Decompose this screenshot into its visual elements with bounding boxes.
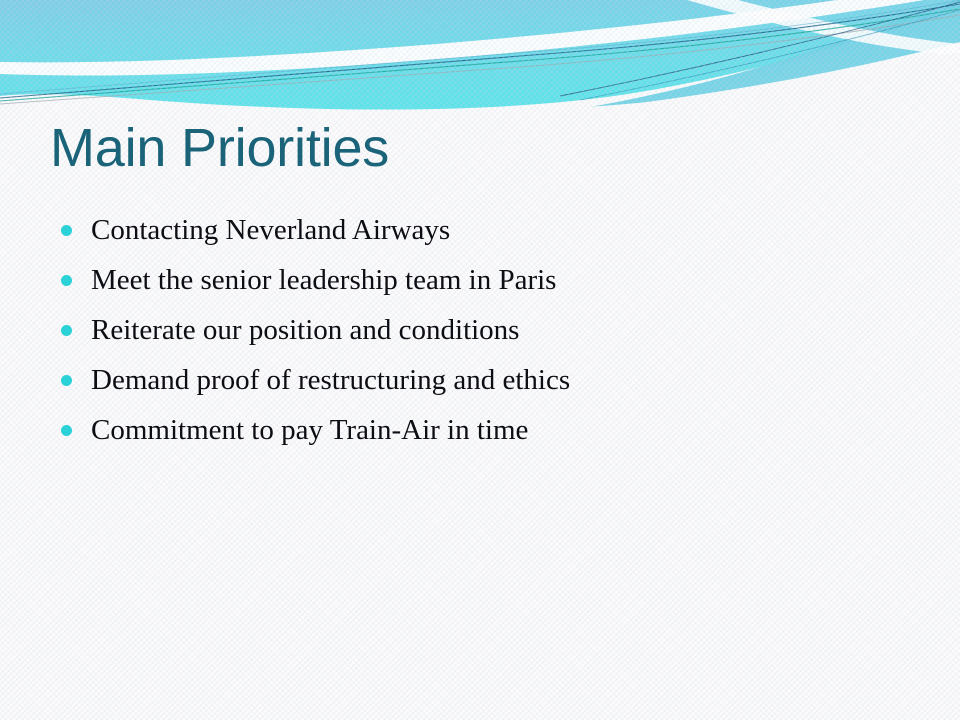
list-item: Demand proof of restructuring and ethics: [55, 355, 915, 405]
bullet-point-icon: [61, 325, 72, 336]
bullet-list: Contacting Neverland Airways Meet the se…: [55, 205, 915, 455]
list-item: Contacting Neverland Airways: [55, 205, 915, 255]
list-item-label: Demand proof of restructuring and ethics: [91, 364, 570, 396]
bullet-point-icon: [61, 225, 72, 236]
list-item: Reiterate our position and conditions: [55, 305, 915, 355]
list-item: Commitment to pay Train-Air in time: [55, 405, 915, 455]
list-item-label: Contacting Neverland Airways: [91, 214, 450, 246]
bullet-point-icon: [61, 375, 72, 386]
list-item-label: Reiterate our position and conditions: [91, 314, 519, 346]
page-title: Main Priorities: [50, 117, 389, 179]
bullet-point-icon: [61, 275, 72, 286]
bullet-point-icon: [61, 425, 72, 436]
slide: Main Priorities Contacting Neverland Air…: [0, 0, 960, 720]
list-item: Meet the senior leadership team in Paris: [55, 255, 915, 305]
slide-content: Main Priorities Contacting Neverland Air…: [0, 0, 960, 720]
list-item-label: Meet the senior leadership team in Paris: [91, 264, 556, 296]
list-item-label: Commitment to pay Train-Air in time: [91, 414, 528, 446]
